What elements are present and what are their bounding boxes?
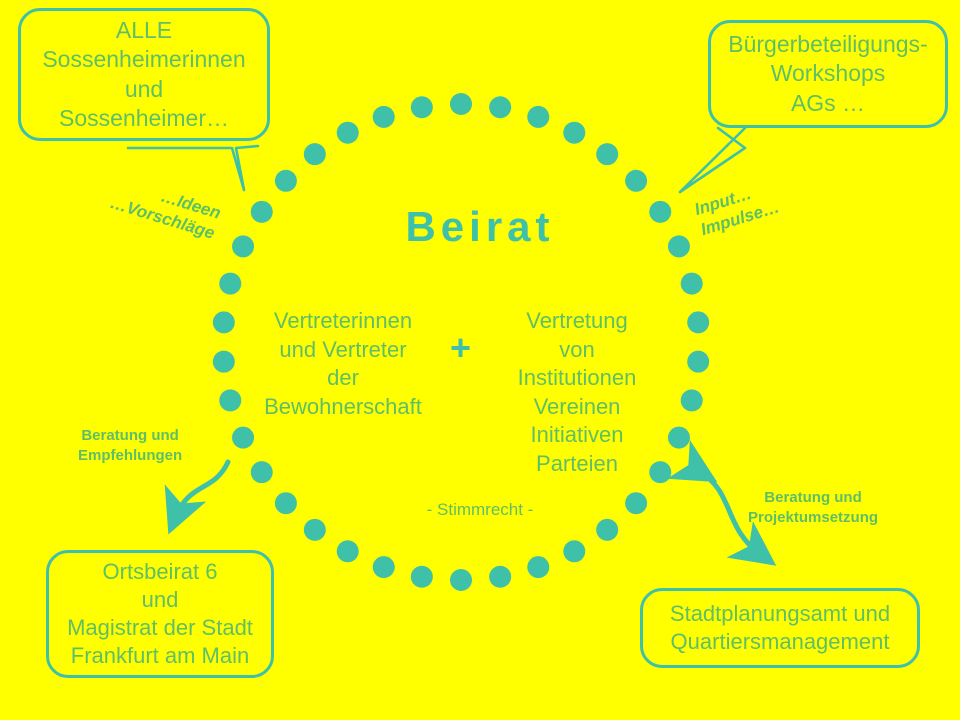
bubble-all-text: ALLESossenheimerinnenundSossenheimer… (31, 16, 257, 134)
ring-dot (596, 519, 618, 541)
ring-dot (489, 566, 511, 588)
ring-dot (219, 273, 241, 295)
ring-dot (304, 519, 326, 541)
center-left-column: Vertreterinnenund VertreterderBewohnersc… (258, 307, 428, 421)
ring-dot (337, 122, 359, 144)
ring-dot (668, 427, 690, 449)
arrow-label-beratung-empfehlungen: Beratung undEmpfehlungen (78, 426, 182, 465)
center-right-column: VertretungvonInstitutionenVereinenInitia… (492, 307, 662, 479)
ring-dot (681, 273, 703, 295)
ring-dot (219, 389, 241, 411)
plus-icon: + (450, 330, 471, 366)
speech-bubble-all-residents: ALLESossenheimerinnenundSossenheimer… (18, 8, 270, 141)
ring-dot (304, 143, 326, 165)
ring-dot (687, 351, 709, 373)
ring-dot (489, 96, 511, 118)
ring-dot (563, 122, 585, 144)
bubble-tail-top-right (680, 128, 745, 192)
ring-dot (213, 311, 235, 333)
page-title: Beirat (0, 203, 960, 251)
ring-dot (527, 556, 549, 578)
box-ortsbeirat: Ortsbeirat 6undMagistrat der StadtFrankf… (46, 550, 274, 678)
ring-dot (450, 569, 472, 591)
ring-dot (337, 540, 359, 562)
ring-dot (411, 96, 433, 118)
ring-dot (450, 93, 472, 115)
box-stadtplanungsamt-text: Stadtplanungsamt undQuartiersmanagement (653, 600, 907, 656)
diagram-canvas: ALLESossenheimerinnenundSossenheimer… …I… (0, 0, 960, 720)
bubble-workshops-text: Bürgerbeteiligungs-WorkshopsAGs … (721, 30, 935, 118)
ring-dot (275, 170, 297, 192)
ring-dot (527, 106, 549, 128)
ring-dot (373, 106, 395, 128)
ring-dot (213, 351, 235, 373)
ring-dot (625, 170, 647, 192)
ring-dot (687, 311, 709, 333)
ring-dot (596, 143, 618, 165)
box-ortsbeirat-text: Ortsbeirat 6undMagistrat der StadtFrankf… (59, 558, 261, 671)
ring-dot (232, 427, 254, 449)
box-stadtplanungsamt: Stadtplanungsamt undQuartiersmanagement (640, 588, 920, 668)
speech-bubble-workshops: Bürgerbeteiligungs-WorkshopsAGs … (708, 20, 948, 128)
ring-dot (411, 566, 433, 588)
ring-dot (563, 540, 585, 562)
ring-dot (373, 556, 395, 578)
arrow-label-beratung-projektumsetzung: Beratung undProjektumsetzung (748, 488, 878, 527)
ring-dot (681, 389, 703, 411)
